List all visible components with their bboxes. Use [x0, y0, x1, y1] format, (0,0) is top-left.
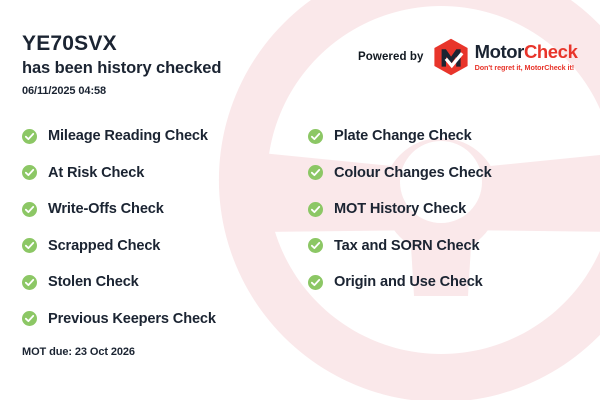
check-circle-icon — [22, 311, 37, 326]
check-label: Origin and Use Check — [334, 274, 483, 290]
registration-number: YE70SVX — [22, 32, 221, 56]
check-circle-icon — [22, 238, 37, 253]
card-header: YE70SVX has been history checked 06/11/2… — [0, 0, 600, 112]
card-footer: MOT due: 23 Oct 2026 — [22, 342, 135, 360]
check-label: Scrapped Check — [48, 238, 160, 254]
list-item: Previous Keepers Check — [22, 301, 322, 338]
check-circle-icon — [308, 238, 323, 253]
list-item: Origin and Use Check — [308, 264, 598, 301]
check-label: Stolen Check — [48, 274, 139, 290]
list-item: Plate Change Check — [308, 118, 598, 155]
motorcheck-hexagon-m-check-icon — [433, 38, 469, 76]
list-item: Scrapped Check — [22, 228, 322, 265]
check-timestamp: 06/11/2025 04:58 — [22, 85, 221, 97]
powered-by-label: Powered by — [358, 51, 424, 63]
list-item: At Risk Check — [22, 155, 322, 192]
checks-left-column: Mileage Reading Check At Risk Check Writ… — [22, 118, 322, 337]
motorcheck-wordmark: MotorCheck Don't regret it, MotorCheck i… — [475, 43, 578, 72]
logo-word-motor: Motor — [475, 41, 524, 62]
check-circle-icon — [22, 275, 37, 290]
check-label: Write-Offs Check — [48, 201, 164, 217]
check-circle-icon — [308, 129, 323, 144]
list-item: Write-Offs Check — [22, 191, 322, 228]
powered-by-block: Powered by MotorCheck Don't regret it, M… — [358, 38, 577, 76]
check-circle-icon — [22, 129, 37, 144]
check-label: Tax and SORN Check — [334, 238, 479, 254]
motorcheck-logo[interactable]: MotorCheck Don't regret it, MotorCheck i… — [433, 38, 578, 76]
check-circle-icon — [22, 202, 37, 217]
registration-block: YE70SVX has been history checked 06/11/2… — [22, 32, 221, 97]
list-item: Stolen Check — [22, 264, 322, 301]
header-subtitle: has been history checked — [22, 59, 221, 79]
check-label: Mileage Reading Check — [48, 128, 208, 144]
check-label: MOT History Check — [334, 201, 466, 217]
vehicle-history-check-card: YE70SVX has been history checked 06/11/2… — [0, 0, 600, 400]
checks-right-column: Plate Change Check Colour Changes Check … — [308, 118, 598, 301]
check-circle-icon — [308, 202, 323, 217]
check-label: At Risk Check — [48, 165, 144, 181]
check-label: Colour Changes Check — [334, 165, 492, 181]
check-circle-icon — [308, 275, 323, 290]
check-label: Plate Change Check — [334, 128, 472, 144]
logo-tagline: Don't regret it, MotorCheck it! — [475, 64, 578, 71]
check-circle-icon — [308, 165, 323, 180]
check-label: Previous Keepers Check — [48, 311, 216, 327]
logo-word-check: Check — [524, 41, 578, 62]
list-item: MOT History Check — [308, 191, 598, 228]
mot-due-text: MOT due: 23 Oct 2026 — [22, 346, 135, 358]
list-item: Tax and SORN Check — [308, 228, 598, 265]
logo-word: MotorCheck — [475, 43, 578, 62]
check-circle-icon — [22, 165, 37, 180]
list-item: Mileage Reading Check — [22, 118, 322, 155]
list-item: Colour Changes Check — [308, 155, 598, 192]
